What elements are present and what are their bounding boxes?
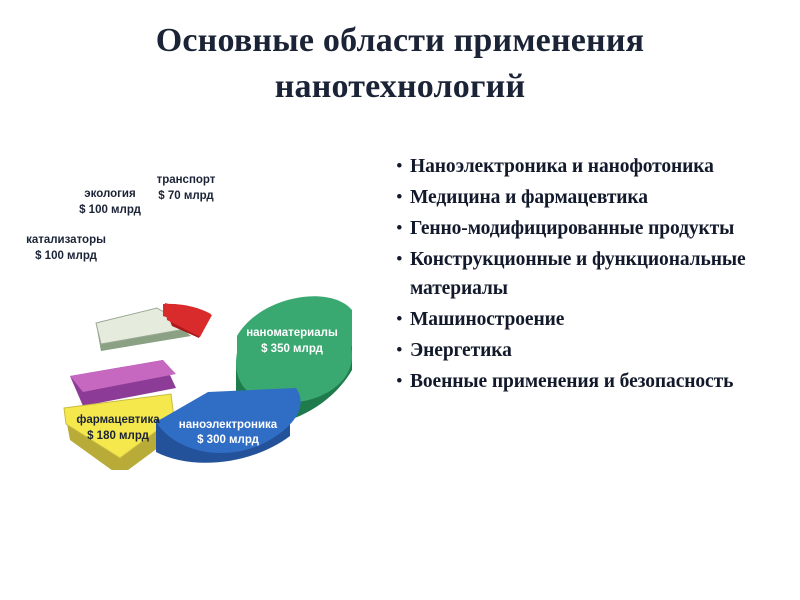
- bullet-icon: •: [396, 336, 410, 365]
- pie-label-ekologiya: экология $ 100 млрд: [79, 188, 142, 216]
- list-item-label: Машиностроение: [410, 305, 796, 334]
- pie-label-transport: транспорт $ 70 млрд: [157, 174, 216, 202]
- pie-label-transport-value: $ 70 млрд: [158, 190, 214, 202]
- bullet-icon: •: [396, 183, 410, 212]
- bullet-icon: •: [396, 214, 410, 243]
- list-item-label: Энергетика: [410, 336, 796, 365]
- pie-label-ekologiya-name: экология: [84, 188, 135, 200]
- list-item-label: Генно-модифицированные продукты: [410, 214, 796, 243]
- page-title: Основные области применения нанотехнолог…: [60, 18, 740, 110]
- list-item[interactable]: • Военные применения и безопасность: [396, 367, 796, 396]
- page-title-line-2: нанотехнологий: [60, 64, 740, 110]
- bullet-icon: •: [396, 305, 410, 334]
- bullet-icon: •: [396, 367, 410, 396]
- pie-label-nanomaterialy-value: $ 350 млрд: [261, 343, 324, 355]
- pie-label-katalizatory-value: $ 100 млрд: [35, 250, 98, 262]
- list-item[interactable]: • Генно-модифицированные продукты: [396, 214, 796, 243]
- list-item[interactable]: • Медицина и фармацевтика: [396, 183, 796, 212]
- pie-label-katalizatory: катализаторы $ 100 млрд: [26, 234, 106, 262]
- list-item[interactable]: • Конструкционные и функциональные матер…: [396, 245, 796, 303]
- list-item-label: Медицина и фармацевтика: [410, 183, 796, 212]
- pie-label-transport-name: транспорт: [157, 174, 216, 186]
- pie-label-nanoelektronika-name: наноэлектроника: [179, 419, 278, 431]
- page-title-line-1: Основные области применения: [60, 18, 740, 64]
- pie-label-farmacevtika-value: $ 180 млрд: [87, 430, 150, 442]
- pie-label-farmacevtika-name: фармацевтика: [76, 414, 160, 426]
- pie-label-nanoelektronika-value: $ 300 млрд: [197, 434, 260, 446]
- bullet-icon: •: [396, 245, 410, 274]
- bullet-icon: •: [396, 152, 410, 181]
- slide-root: Основные области применения нанотехнолог…: [0, 0, 800, 600]
- application-areas-list: • Наноэлектроника и нанофотоника • Медиц…: [396, 152, 796, 398]
- list-item-label: Конструкционные и функциональные материа…: [410, 245, 796, 303]
- pie-chart: наноматериалы $ 350 млрд наноэлектроника…: [0, 140, 390, 470]
- list-item[interactable]: • Энергетика: [396, 336, 796, 365]
- pie-chart-svg: наноматериалы $ 350 млрд наноэлектроника…: [0, 140, 390, 470]
- pie-label-katalizatory-name: катализаторы: [26, 234, 106, 246]
- list-item[interactable]: • Машиностроение: [396, 305, 796, 334]
- list-item-label: Военные применения и безопасность: [410, 367, 796, 396]
- pie-label-nanomaterialy-name: наноматериалы: [246, 327, 338, 339]
- list-item-label: Наноэлектроника и нанофотоника: [410, 152, 796, 181]
- pie-label-ekologiya-value: $ 100 млрд: [79, 204, 142, 216]
- list-item[interactable]: • Наноэлектроника и нанофотоника: [396, 152, 796, 181]
